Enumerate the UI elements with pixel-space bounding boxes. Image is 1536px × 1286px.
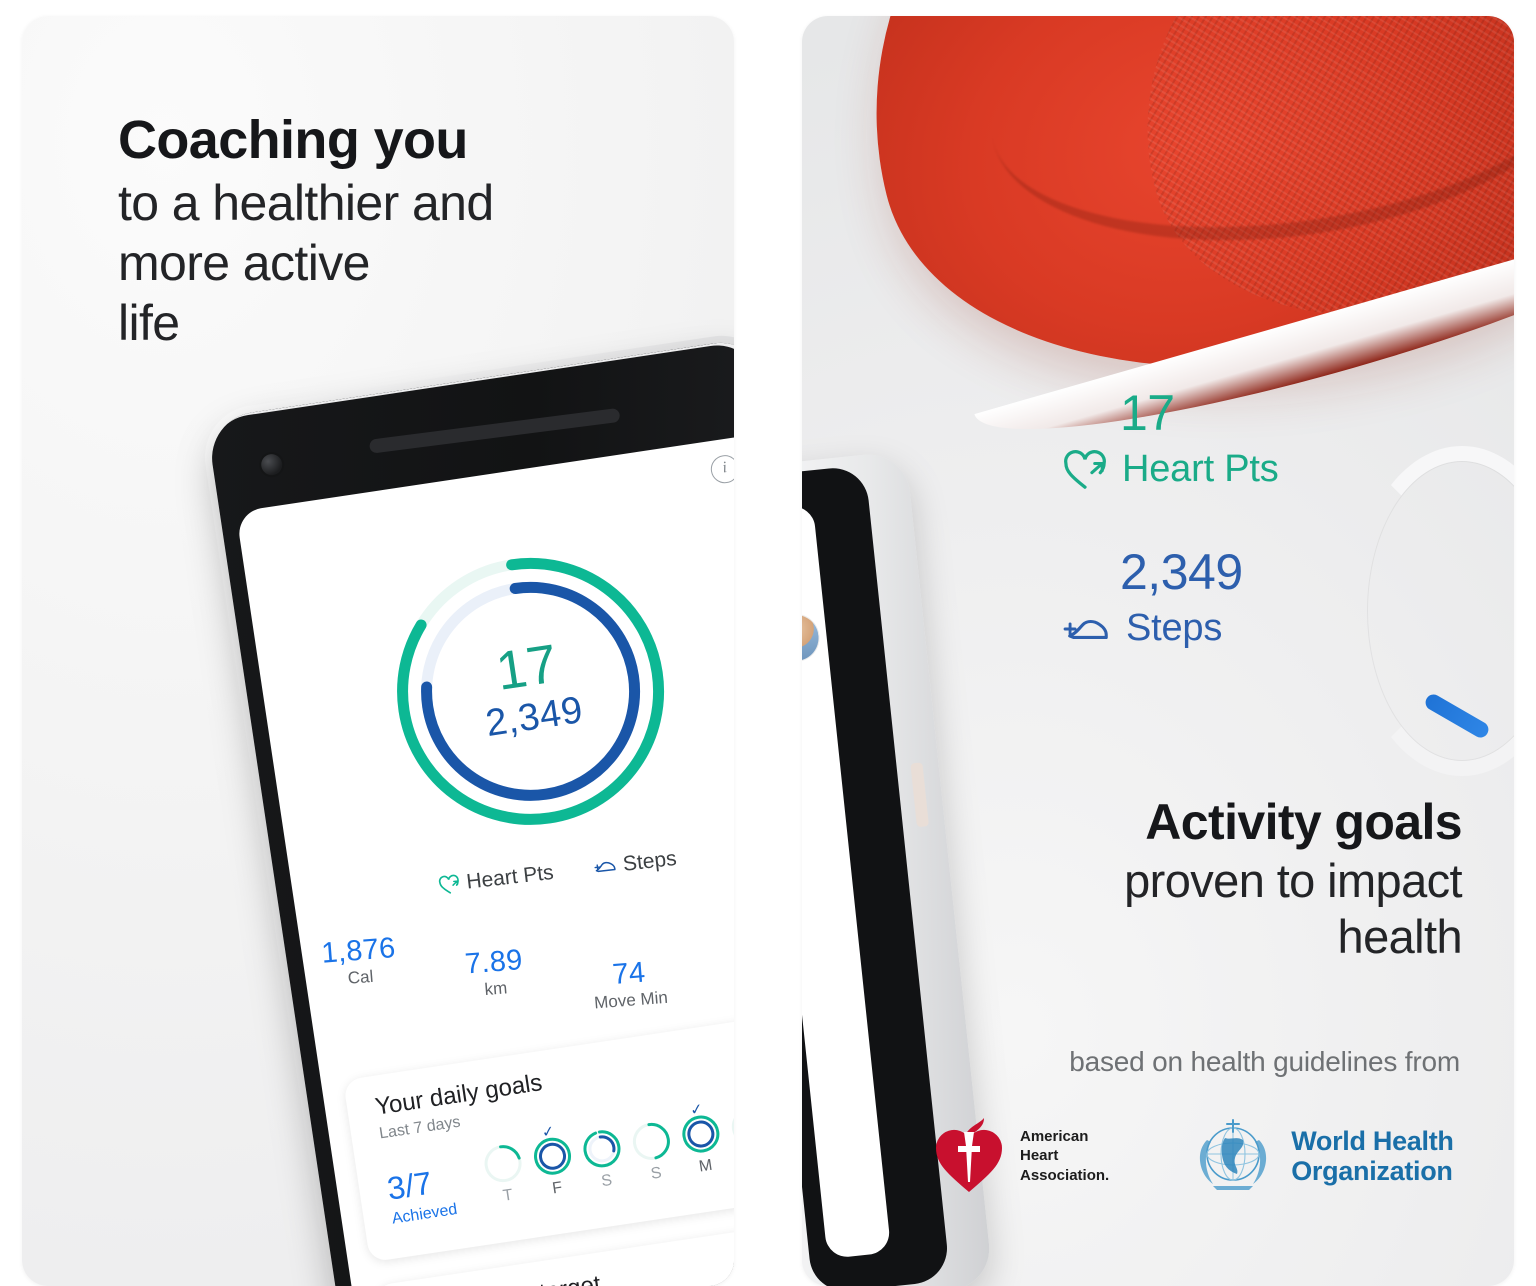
stat-steps-line: Steps xyxy=(1062,607,1482,650)
left-phone-mockup: i 17 2,349 xyxy=(117,326,734,1286)
stat-heart-pts-value: 17 xyxy=(1120,388,1482,438)
earpiece-speaker xyxy=(369,408,621,454)
left-headline: Coaching you to a healthier and more act… xyxy=(118,108,658,353)
based-on-text: based on health guidelines from xyxy=(1069,1046,1460,1078)
right-promo-panel: 17 Heart Pts 2,349 Steps xyxy=(802,16,1514,1286)
day-label: S xyxy=(650,1164,663,1183)
metric-km-value: 7.89 xyxy=(464,945,524,980)
metric-move-min-value: 74 xyxy=(591,956,667,992)
metric-km-label: km xyxy=(466,977,525,1002)
daily-goals-card[interactable]: Your daily goals Last 7 days › 3/7 Achie… xyxy=(343,1008,734,1263)
rings-legend: Heart Pts Steps xyxy=(293,830,734,914)
day-label: S xyxy=(600,1172,613,1191)
day-ring xyxy=(579,1126,624,1171)
day-goal-F[interactable]: ✓F xyxy=(528,1133,581,1201)
activity-rings[interactable]: 17 2,349 xyxy=(368,529,693,854)
who-line2: Organization xyxy=(1291,1156,1453,1186)
daily-goals-count: 3/7 xyxy=(385,1165,434,1208)
stat-heart-pts: 17 Heart Pts xyxy=(1062,388,1482,491)
day-label: F xyxy=(551,1179,563,1198)
phone-screen: i 17 2,349 xyxy=(236,434,734,1286)
shoe-steps-icon xyxy=(592,857,618,878)
aha-line2: Heart xyxy=(1020,1146,1109,1165)
stat-steps-label: Steps xyxy=(1126,607,1222,650)
metric-move-min-label: Move Min xyxy=(594,988,669,1014)
who-line1: World Health xyxy=(1291,1126,1453,1156)
day-goal-S[interactable]: S xyxy=(577,1126,630,1194)
left-headline-line2: to a healthier and xyxy=(118,173,658,233)
right-headline-line3: health xyxy=(902,909,1462,966)
shoe-steps-icon xyxy=(1062,611,1112,647)
info-icon[interactable]: i xyxy=(709,453,734,485)
phone-sliver-screen xyxy=(802,504,891,1259)
metric-cal-value: 1,876 xyxy=(320,933,396,969)
screenshot-stage: Coaching you to a healthier and more act… xyxy=(0,0,1536,1286)
day-label: M xyxy=(698,1157,714,1177)
ring-heart-points-value: 17 xyxy=(493,637,561,699)
right-panel-stats: 17 Heart Pts 2,349 Steps xyxy=(1062,388,1482,706)
rings-center-values: 17 2,349 xyxy=(368,529,693,854)
legend-steps-label: Steps xyxy=(622,847,678,877)
who-logo-text: World Health Organization xyxy=(1291,1126,1453,1186)
daily-goals-day-dots: T✓FSS✓MT✓W xyxy=(478,1096,734,1208)
day-goal-M[interactable]: ✓M xyxy=(676,1111,729,1179)
heart-plus-icon xyxy=(1062,449,1108,491)
left-headline-line4: life xyxy=(118,293,658,353)
day-ring xyxy=(480,1141,525,1186)
day-ring xyxy=(629,1119,674,1164)
aha-line3: Association. xyxy=(1020,1166,1109,1185)
day-ring xyxy=(728,1104,734,1149)
heart-plus-icon xyxy=(438,873,462,895)
aha-heart-torch-icon xyxy=(932,1116,1006,1196)
aha-line1: American xyxy=(1020,1127,1109,1146)
partner-logos: American Heart Association. xyxy=(932,1110,1462,1202)
american-heart-association-logo: American Heart Association. xyxy=(932,1116,1109,1196)
stat-steps-value: 2,349 xyxy=(1120,547,1482,597)
aha-logo-text: American Heart Association. xyxy=(1020,1127,1109,1185)
day-ring: ✓ xyxy=(530,1133,575,1178)
right-headline: Activity goals proven to impact health xyxy=(902,792,1462,966)
day-ring: ✓ xyxy=(678,1111,723,1156)
metric-km[interactable]: 7.89 km xyxy=(464,945,526,1002)
phone-body: i 17 2,349 xyxy=(206,337,734,1286)
stat-steps: 2,349 Steps xyxy=(1062,547,1482,650)
day-label: T xyxy=(502,1187,514,1206)
left-headline-line1: Coaching you xyxy=(118,108,658,173)
day-goal-T[interactable]: T xyxy=(478,1141,531,1209)
legend-steps: Steps xyxy=(592,847,678,880)
front-camera-icon xyxy=(260,453,284,477)
stat-heart-pts-label: Heart Pts xyxy=(1122,448,1279,491)
legend-heart-pts: Heart Pts xyxy=(437,861,555,898)
who-globe-laurel-icon xyxy=(1187,1110,1279,1202)
right-headline-line1: Activity goals xyxy=(902,792,1462,853)
weekly-target-title: Your weekly target xyxy=(404,1271,603,1286)
metric-cal[interactable]: 1,876 Cal xyxy=(320,933,398,991)
metric-move-min[interactable]: 74 Move Min xyxy=(591,956,669,1014)
left-promo-panel: Coaching you to a healthier and more act… xyxy=(22,16,734,1286)
left-headline-line3: more active xyxy=(118,233,658,293)
world-health-organization-logo: World Health Organization xyxy=(1187,1110,1453,1202)
metric-cal-label: Cal xyxy=(323,965,398,991)
metrics-row: 1,876 Cal 7.89 km 74 Move Min 7h59m xyxy=(320,900,734,1052)
stat-heart-pts-line: Heart Pts xyxy=(1062,448,1482,491)
right-headline-line2: proven to impact xyxy=(902,853,1462,910)
legend-heart-pts-label: Heart Pts xyxy=(465,861,555,895)
ring-steps-value: 2,349 xyxy=(483,687,587,748)
check-icon: ✓ xyxy=(541,1124,556,1141)
day-goal-S[interactable]: S xyxy=(627,1118,680,1186)
check-icon: ✓ xyxy=(689,1102,704,1119)
